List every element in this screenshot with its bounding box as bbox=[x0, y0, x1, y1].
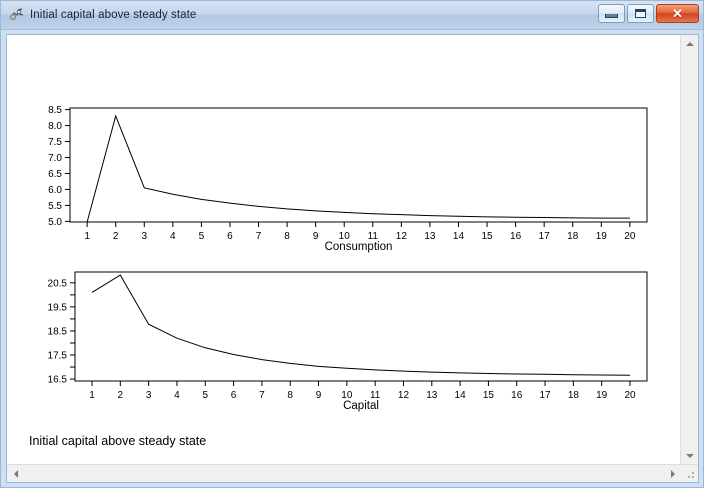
svg-text:16.5: 16.5 bbox=[48, 375, 68, 386]
scroll-up-button[interactable] bbox=[681, 35, 698, 52]
svg-text:18.5: 18.5 bbox=[48, 326, 68, 337]
svg-text:4: 4 bbox=[174, 390, 180, 401]
svg-text:9: 9 bbox=[313, 231, 319, 242]
chevron-left-icon bbox=[14, 470, 18, 478]
scroll-down-button[interactable] bbox=[681, 447, 698, 464]
svg-text:14: 14 bbox=[453, 231, 465, 242]
svg-text:7.0: 7.0 bbox=[48, 153, 62, 164]
svg-text:8: 8 bbox=[284, 231, 290, 242]
svg-text:19: 19 bbox=[596, 231, 608, 242]
horizontal-scrollbar-row bbox=[7, 464, 698, 482]
svg-text:13: 13 bbox=[424, 231, 436, 242]
svg-text:5.5: 5.5 bbox=[48, 201, 62, 212]
plot-canvas: 12345678910111213141516171819205.05.56.0… bbox=[7, 35, 680, 464]
svg-text:8.0: 8.0 bbox=[48, 121, 62, 132]
svg-text:5: 5 bbox=[202, 390, 208, 401]
svg-text:13: 13 bbox=[426, 390, 438, 401]
svg-text:7: 7 bbox=[259, 390, 265, 401]
svg-text:19: 19 bbox=[596, 390, 608, 401]
svg-text:20.5: 20.5 bbox=[48, 278, 68, 289]
chevron-down-icon bbox=[686, 454, 694, 458]
svg-text:16: 16 bbox=[511, 390, 523, 401]
svg-text:19.5: 19.5 bbox=[48, 302, 68, 313]
chevron-up-icon bbox=[686, 42, 694, 46]
application-window: Initial capital above steady state ✕ 123… bbox=[0, 0, 704, 488]
svg-text:3: 3 bbox=[146, 390, 152, 401]
svg-text:8.5: 8.5 bbox=[48, 105, 62, 116]
scroll-left-button[interactable] bbox=[7, 465, 24, 482]
close-icon: ✕ bbox=[672, 7, 683, 20]
svg-text:6: 6 bbox=[231, 390, 237, 401]
maximize-button[interactable] bbox=[627, 4, 654, 23]
svg-text:16: 16 bbox=[510, 231, 522, 242]
window-title: Initial capital above steady state bbox=[30, 9, 196, 21]
svg-text:2: 2 bbox=[113, 231, 119, 242]
client-body: 12345678910111213141516171819205.05.56.0… bbox=[7, 35, 698, 464]
svg-text:18: 18 bbox=[568, 390, 580, 401]
title-bar[interactable]: Initial capital above steady state ✕ bbox=[1, 1, 703, 30]
client-area: 12345678910111213141516171819205.05.56.0… bbox=[6, 34, 699, 483]
svg-text:4: 4 bbox=[170, 231, 176, 242]
resize-grip[interactable] bbox=[681, 465, 698, 482]
svg-text:6.0: 6.0 bbox=[48, 185, 62, 196]
minimize-button[interactable] bbox=[598, 4, 625, 23]
svg-text:12: 12 bbox=[396, 231, 408, 242]
window-controls: ✕ bbox=[598, 4, 699, 23]
svg-text:Consumption: Consumption bbox=[325, 241, 393, 253]
svg-text:17.5: 17.5 bbox=[48, 351, 68, 362]
svg-text:20: 20 bbox=[624, 390, 636, 401]
scroll-right-button[interactable] bbox=[664, 465, 681, 482]
app-icon bbox=[8, 7, 25, 24]
svg-text:17: 17 bbox=[539, 231, 551, 242]
svg-text:20: 20 bbox=[624, 231, 636, 242]
svg-text:7: 7 bbox=[256, 231, 262, 242]
svg-text:5: 5 bbox=[199, 231, 205, 242]
svg-text:5.0: 5.0 bbox=[48, 217, 62, 228]
svg-text:Capital: Capital bbox=[343, 400, 379, 412]
minimize-icon bbox=[605, 14, 618, 18]
svg-text:6.5: 6.5 bbox=[48, 169, 62, 180]
svg-text:15: 15 bbox=[483, 390, 495, 401]
chevron-right-icon bbox=[671, 470, 675, 478]
close-button[interactable]: ✕ bbox=[656, 4, 699, 23]
plots-svg: 12345678910111213141516171819205.05.56.0… bbox=[7, 35, 679, 464]
svg-text:3: 3 bbox=[141, 231, 147, 242]
maximize-icon bbox=[635, 9, 646, 18]
svg-text:2: 2 bbox=[118, 390, 124, 401]
svg-text:14: 14 bbox=[455, 390, 467, 401]
figure-caption: Initial capital above steady state bbox=[29, 434, 206, 448]
svg-text:15: 15 bbox=[481, 231, 493, 242]
svg-text:17: 17 bbox=[539, 390, 551, 401]
svg-text:8: 8 bbox=[287, 390, 293, 401]
svg-text:6: 6 bbox=[227, 231, 233, 242]
svg-text:7.5: 7.5 bbox=[48, 137, 62, 148]
svg-text:1: 1 bbox=[89, 390, 95, 401]
svg-text:1: 1 bbox=[84, 231, 90, 242]
svg-text:18: 18 bbox=[567, 231, 579, 242]
vertical-scrollbar[interactable] bbox=[680, 35, 698, 464]
svg-text:9: 9 bbox=[316, 390, 322, 401]
svg-text:12: 12 bbox=[398, 390, 410, 401]
horizontal-scrollbar[interactable] bbox=[7, 465, 681, 482]
